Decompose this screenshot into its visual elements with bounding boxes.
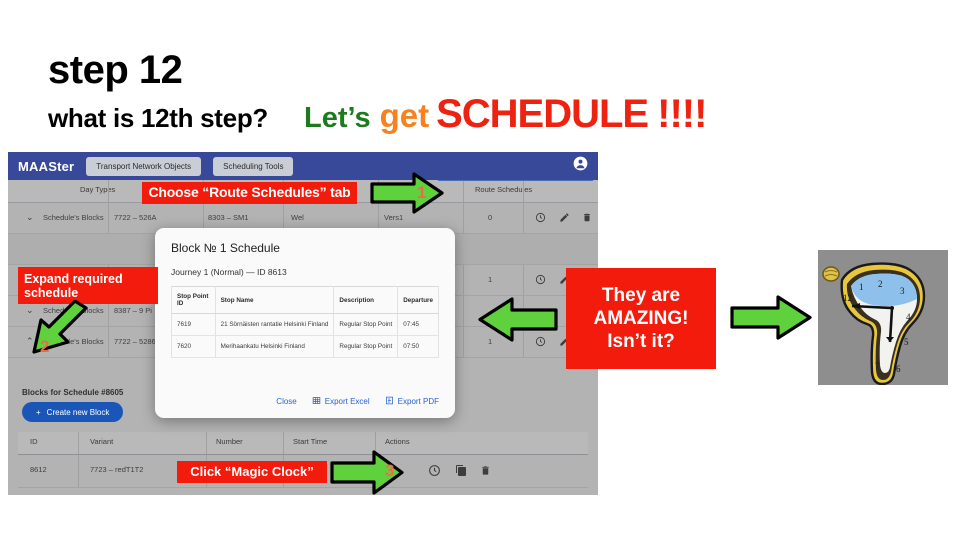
description: Regular Stop Point [334,336,398,358]
page-subtitle: what is 12th step? [48,103,268,134]
table-row: 7619 21 Sörnäisten rantatie Helsinki Fin… [172,314,439,336]
modal-action-bar: Close Export Excel Export PDF [276,396,439,407]
green-arrow-left [476,297,558,347]
svg-text:6: 6 [896,364,901,374]
account-circle-icon[interactable] [573,156,588,176]
stop-point-id: 7620 [172,336,216,358]
create-new-block-label: Create new Block [47,408,110,417]
page-title: step 12 [48,50,182,90]
nav-scheduling-tools[interactable]: Scheduling Tools [213,157,293,176]
block-id: 8612 [30,465,47,474]
svg-text:4: 4 [906,312,911,322]
tagline-get: get [380,97,430,135]
callout-click-magic-clock: Click “Magic Clock” [177,461,327,483]
step-number-1: 1 [417,183,426,203]
tagline-lets: Let’s [304,102,371,135]
blocks-panel-title: Blocks for Schedule #8605 [22,388,123,397]
close-button[interactable]: Close [276,397,296,406]
app-brand-maaster: MAASter [18,159,74,174]
delete-trash-icon[interactable] [582,210,592,228]
tagline-exclaim: !!!! [657,92,706,137]
subtitle-row: what is 12th step? Let’s get SCHEDULE !!… [48,92,706,137]
svg-text:2: 2 [878,279,883,289]
melting-clock-image: 1212 345 67 [818,250,948,385]
edit-pencil-icon[interactable] [559,210,570,228]
svg-text:1: 1 [859,282,864,292]
row-variant: 7722 – 5286 [114,337,156,346]
plus-icon: + [36,408,41,417]
table-header-row: Stop Point ID Stop Name Description Depa… [172,287,439,314]
callout-they-are-amazing: They are AMAZING! Isn’t it? [566,268,716,369]
app-header-bar: MAASter Transport Network Objects Schedu… [8,152,598,180]
row-day: Wel [291,213,304,222]
amazing-line-1: They are [602,284,680,307]
row-variant: 7722 – 526A [114,213,157,222]
magic-clock-icon[interactable] [428,464,441,482]
amazing-line-3: Isn’t it? [607,330,675,353]
column-header-stop-name: Stop Name [215,287,334,314]
row-code: 8303 – SM1 [208,213,248,222]
delete-trash-icon[interactable] [480,464,491,482]
column-header-start-time: Start Time [293,437,327,446]
svg-text:3: 3 [900,286,905,296]
step-number-2: 2 [40,337,49,357]
clock-icon[interactable] [535,272,546,290]
column-header-stop-point-id: Stop Point ID [172,287,216,314]
export-excel-button[interactable]: Export Excel [312,396,370,407]
svg-text:12: 12 [843,293,852,303]
table-grid-icon [312,396,321,407]
amazing-line-2: AMAZING! [594,307,689,330]
pdf-file-icon [385,396,394,407]
block-schedule-modal: Block № 1 Schedule Journey 1 (Normal) — … [155,228,455,418]
row-label: Schedule's Blocks [43,213,104,222]
column-header-day-types: Day Types [80,185,115,194]
create-new-block-button[interactable]: + Create new Block [22,402,123,422]
green-arrow-right-1 [370,172,445,219]
table-row: 7620 Merihaankatu Helsinki Finland Regul… [172,336,439,358]
description: Regular Stop Point [334,314,398,336]
stops-table: Stop Point ID Stop Name Description Depa… [171,286,439,358]
green-arrow-right-to-clock [730,295,812,345]
stop-name: 21 Sörnäisten rantatie Helsinki Finland [215,314,334,336]
export-excel-label: Export Excel [325,397,370,406]
stop-name: Merihaankatu Helsinki Finland [215,336,334,358]
callout-choose-route-schedules: Choose “Route Schedules” tab [142,182,357,204]
clock-icon[interactable] [535,210,546,228]
column-header-variant: Variant [90,437,113,446]
export-pdf-label: Export PDF [398,397,439,406]
stop-point-id: 7619 [172,314,216,336]
tagline-schedule: SCHEDULE [436,92,648,137]
modal-title: Block № 1 Schedule [171,241,439,255]
nav-transport-network-objects[interactable]: Transport Network Objects [86,157,201,176]
block-variant: 7723 – redT1T2 [90,465,143,474]
duplicate-icon[interactable] [455,464,467,482]
svg-text:5: 5 [904,337,909,347]
departure: 07:50 [398,336,439,358]
row-variant: 8387 – 9 Pi [114,306,152,315]
step-number-3: 3 [385,461,394,481]
row-count: 1 [488,275,492,284]
column-header-departure: Departure [398,287,439,314]
svg-text:7: 7 [875,361,880,371]
modal-journey: Journey 1 (Normal) — ID 8613 [171,267,439,277]
export-pdf-button[interactable]: Export PDF [385,396,439,407]
column-header-id: ID [30,437,38,446]
callout-expand-schedule: Expand required schedule [18,267,158,304]
chevron-down-icon[interactable]: ⌄ [26,212,34,223]
column-header-description: Description [334,287,398,314]
row-count: 0 [488,213,492,222]
column-header-number: Number [216,437,243,446]
column-header-actions: Actions [385,437,410,446]
departure: 07:45 [398,314,439,336]
table-header-row: ID Variant Number Start Time Actions [18,432,588,455]
